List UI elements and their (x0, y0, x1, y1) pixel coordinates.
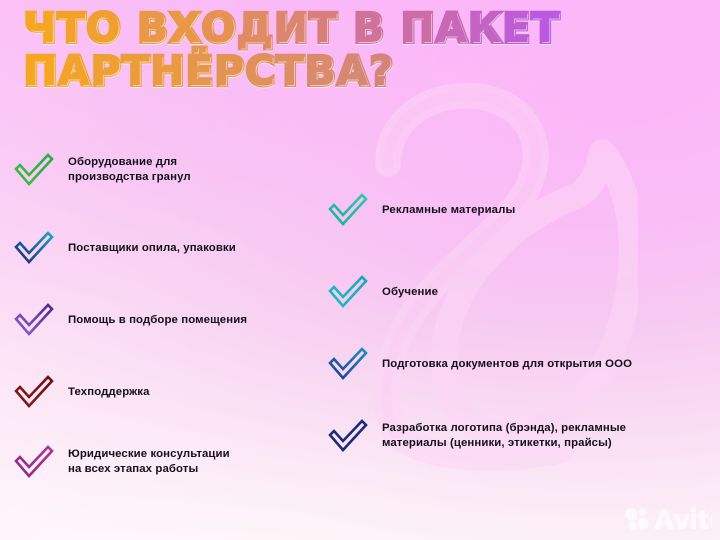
title-glyph: Д (237, 10, 274, 49)
title-glyph: К (469, 10, 503, 49)
benefit-item-label: Подготовка документов для открытия ООО (382, 357, 632, 372)
benefit-item-label: Обучение (382, 285, 438, 300)
benefit-item: Рекламные материалы (326, 190, 716, 230)
title-glyph: В (305, 53, 337, 92)
page-title-line-1: ЧТО ВХОДИТ В ПАКЕТ (24, 10, 684, 49)
checkmark-icon-magenta (12, 442, 56, 482)
benefit-item-label: Техподдержка (68, 385, 150, 400)
title-glyph: В (138, 10, 170, 49)
page-title-line-2: ПАРТНЁРСТВА? (24, 53, 684, 92)
checkmark-icon-cyan (326, 272, 370, 312)
title-glyph: И (275, 10, 310, 49)
benefit-item-label: Помощь в подборе помещения (68, 313, 247, 328)
title-glyph (386, 10, 401, 49)
benefit-item: Техподдержка (12, 372, 322, 412)
title-glyph: П (24, 53, 59, 92)
title-glyph: Т (122, 53, 151, 92)
benefit-item: Разработка логотипа (брэнда), рекламныем… (326, 416, 716, 456)
benefit-item: Помощь в подборе помещения (12, 300, 322, 340)
title-glyph: Н (151, 53, 186, 92)
title-glyph: Х (170, 10, 202, 49)
title-glyph (338, 10, 353, 49)
title-glyph: Т (532, 10, 561, 49)
title-glyph: В (354, 10, 386, 49)
title-glyph: А (436, 10, 468, 49)
title-glyph: Т (58, 10, 87, 49)
checkmark-icon-steel (326, 344, 370, 384)
checkmark-icon-teal (326, 190, 370, 230)
checkmark-icon-maroon (12, 372, 56, 412)
title-glyph: П (401, 10, 436, 49)
title-glyph (122, 10, 137, 49)
checkmark-icon-green (12, 150, 56, 190)
title-glyph: С (246, 53, 277, 92)
page-title: ЧТО ВХОДИТ В ПАКЕТ ПАРТНЁРСТВА? (24, 10, 684, 92)
avito-watermark (624, 506, 712, 532)
checkmark-icon-blue (12, 228, 56, 268)
benefit-item-label: Поставщики опила, упаковки (68, 241, 236, 256)
checkmark-icon-navy (326, 416, 370, 456)
benefit-item: Обучение (326, 272, 716, 312)
benefit-item-label: Юридические консультациина всех этапах р… (68, 447, 230, 476)
title-glyph: Т (310, 10, 339, 49)
avito-logo-icon (624, 506, 712, 532)
title-glyph: А (59, 53, 91, 92)
title-glyph: О (202, 10, 238, 49)
title-glyph: Е (503, 10, 532, 49)
benefit-item-label: Оборудование дляпроизводства гранул (68, 155, 191, 184)
title-glyph: Р (91, 53, 122, 92)
title-glyph: Т (277, 53, 306, 92)
benefit-item-label: Разработка логотипа (брэнда), рекламныем… (382, 421, 626, 450)
checkmark-icon-purple (12, 300, 56, 340)
title-glyph: ? (370, 53, 395, 92)
benefit-item-label: Рекламные материалы (382, 203, 515, 218)
title-glyph: Ё (186, 53, 215, 92)
benefit-item: Подготовка документов для открытия ООО (326, 344, 716, 384)
benefit-item: Оборудование дляпроизводства гранул (12, 150, 322, 190)
title-glyph: А (337, 53, 369, 92)
benefit-item: Поставщики опила, упаковки (12, 228, 322, 268)
benefit-item: Юридические консультациина всех этапах р… (12, 442, 322, 482)
title-glyph: Р (215, 53, 246, 92)
title-glyph: О (87, 10, 123, 49)
title-glyph: Ч (24, 10, 58, 49)
slide-canvas: ЧТО ВХОДИТ В ПАКЕТ ПАРТНЁРСТВА? Оборудов… (0, 0, 720, 540)
